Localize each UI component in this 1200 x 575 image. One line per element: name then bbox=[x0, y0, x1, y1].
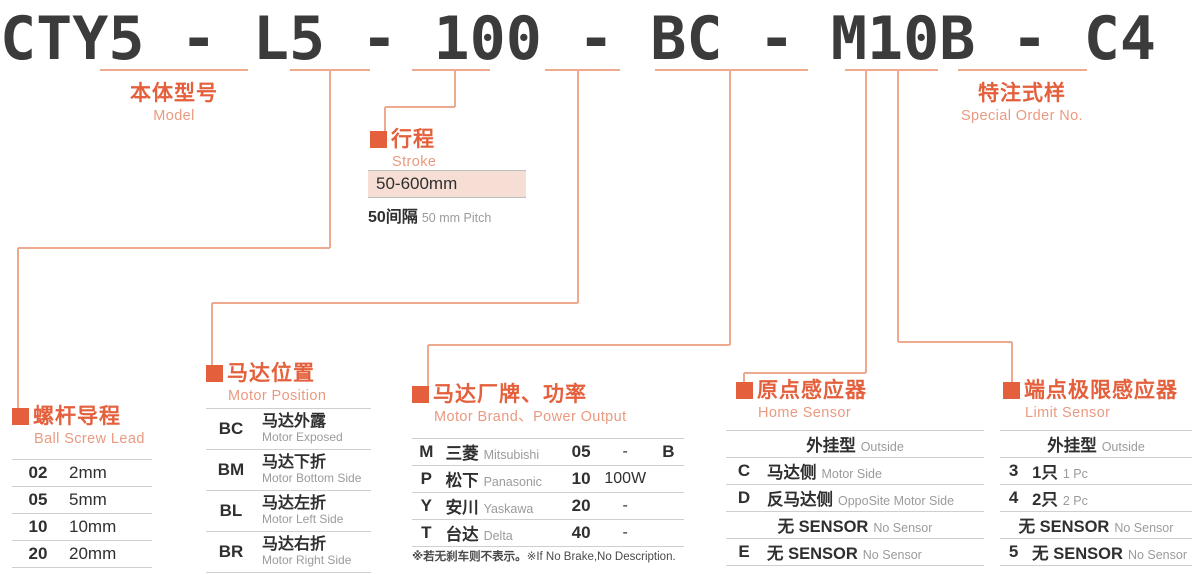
cell-brand-code: P bbox=[412, 466, 441, 493]
cell-brand-code: M bbox=[412, 439, 441, 466]
cell-brand-name: 松下Panasonic bbox=[441, 466, 565, 493]
cell-band-header: 无 SENSORNo Sensor bbox=[1000, 512, 1192, 539]
cell-cn: 马达右折 bbox=[262, 537, 365, 554]
cell-cn: 外挂型 bbox=[806, 437, 856, 455]
cell-en: Yaskawa bbox=[484, 502, 534, 516]
bullet-square-icon bbox=[206, 365, 223, 382]
label-stroke: 行程 Stroke bbox=[370, 128, 436, 171]
table-row: 无 SENSORNo Sensor bbox=[1000, 512, 1192, 539]
cell-cn: 马达侧 bbox=[767, 464, 817, 482]
bullet-square-icon bbox=[370, 131, 387, 148]
bullet-square-icon bbox=[412, 386, 429, 403]
cell-en: Motor Side bbox=[822, 467, 882, 481]
cell-description: 无 SENSORNo Sensor bbox=[762, 539, 984, 566]
table-row: E无 SENSORNo Sensor bbox=[726, 539, 984, 566]
label-motor-brand-cn: 马达厂牌、功率 bbox=[412, 383, 627, 407]
cell-code: 10 bbox=[12, 514, 64, 541]
cell-power-code: 05 bbox=[565, 439, 598, 466]
cell-en: 2 Pc bbox=[1063, 494, 1088, 508]
cell-code: BR bbox=[206, 532, 256, 573]
cell-band-header: 外挂型Outside bbox=[726, 431, 984, 458]
label-stroke-cn: 行程 bbox=[370, 128, 436, 152]
cell-cn: 马达左折 bbox=[262, 496, 365, 513]
table-row: 1010mm bbox=[12, 514, 152, 541]
cell-code: E bbox=[726, 539, 762, 566]
cell-code: 20 bbox=[12, 541, 64, 568]
table-home-sensor: 外挂型OutsideC马达侧Motor SideD反马达侧OppoSite Mo… bbox=[726, 430, 984, 566]
cell-cn: 无 SENSOR bbox=[1032, 545, 1123, 563]
table-row: 无 SENSORNo Sensor bbox=[726, 512, 984, 539]
table-row: 外挂型Outside bbox=[726, 431, 984, 458]
label-motor-position-cn: 马达位置 bbox=[206, 362, 326, 386]
cell-brake-empty bbox=[653, 493, 684, 520]
cell-cn: 无 SENSOR bbox=[778, 518, 869, 536]
cell-description: 马达右折Motor Right Side bbox=[256, 532, 371, 573]
label-ball-screw-lead-en: Ball Screw Lead bbox=[34, 430, 145, 448]
cell-cn: 反马达侧 bbox=[767, 491, 833, 509]
cell-power-code: 20 bbox=[565, 493, 598, 520]
cell-brake-empty bbox=[653, 466, 684, 493]
cell-en: 1 Pc bbox=[1063, 467, 1088, 481]
label-special-order-en: Special Order No. bbox=[952, 107, 1092, 125]
cell-power: 100W bbox=[598, 466, 653, 493]
cell-description: 马达侧Motor Side bbox=[762, 458, 984, 485]
cell-brand-name: 三菱Mitsubishi bbox=[441, 439, 565, 466]
label-limit-sensor-en: Limit Sensor bbox=[1025, 404, 1178, 422]
stroke-spec: 50-600mm 50间隔50 mm Pitch bbox=[368, 170, 526, 227]
cell-en: No Sensor bbox=[863, 548, 922, 562]
diagram-canvas: CTY5 - L5 - 100 - BC - M10B - C4 - 0001 … bbox=[0, 0, 1200, 575]
stroke-pitch: 50间隔50 mm Pitch bbox=[368, 203, 526, 227]
cell-description: 2只2 Pc bbox=[1027, 485, 1192, 512]
stroke-pitch-en: 50 mm Pitch bbox=[422, 211, 491, 225]
cell-code: 5 bbox=[1000, 539, 1027, 566]
cell-code: BL bbox=[206, 491, 256, 532]
cell-cn: 安川 bbox=[446, 499, 479, 517]
cell-en: Motor Left Side bbox=[262, 513, 365, 526]
cell-code: C bbox=[726, 458, 762, 485]
cell-cn: 外挂型 bbox=[1047, 437, 1097, 455]
table-row: D反马达侧OppoSite Motor Side bbox=[726, 485, 984, 512]
cell-description: 马达外露Motor Exposed bbox=[256, 409, 371, 450]
cell-band-header: 外挂型Outside bbox=[1000, 431, 1192, 458]
label-limit-sensor-cn: 端点极限感应器 bbox=[1003, 379, 1178, 403]
cell-power: - bbox=[598, 439, 653, 466]
table-row: 42只2 Pc bbox=[1000, 485, 1192, 512]
table-row: 022mm bbox=[12, 460, 152, 487]
table-limit-sensor: 外挂型Outside31只1 Pc42只2 Pc无 SENSORNo Senso… bbox=[1000, 430, 1192, 566]
label-home-sensor-en: Home Sensor bbox=[758, 404, 867, 422]
product-code: CTY5 - L5 - 100 - BC - M10B - C4 - 0001 bbox=[0, 4, 1200, 74]
cell-code: 4 bbox=[1000, 485, 1027, 512]
cell-cn: 马达下折 bbox=[262, 455, 365, 472]
cell-cn: 无 SENSOR bbox=[1019, 518, 1110, 536]
cell-description: 反马达侧OppoSite Motor Side bbox=[762, 485, 984, 512]
motor-brand-note-cn: ※若无刹车则不表示。 bbox=[412, 551, 527, 563]
cell-value: 20mm bbox=[64, 541, 152, 568]
motor-brand-note-en: ※If No Brake,No Description. bbox=[527, 551, 676, 563]
cell-en: Outside bbox=[861, 440, 904, 454]
cell-en: No Sensor bbox=[1128, 548, 1187, 562]
cell-value: 5mm bbox=[64, 487, 152, 514]
table-ball-screw-lead: 022mm055mm1010mm2020mm bbox=[12, 459, 152, 568]
table-row: 31只1 Pc bbox=[1000, 458, 1192, 485]
cell-en: Mitsubishi bbox=[484, 448, 540, 462]
cell-code: BM bbox=[206, 450, 256, 491]
cell-power-code: 10 bbox=[565, 466, 598, 493]
label-motor-position-en: Motor Position bbox=[228, 387, 326, 405]
cell-brand-code: T bbox=[412, 520, 441, 547]
cell-code: BC bbox=[206, 409, 256, 450]
label-motor-brand: 马达厂牌、功率 Motor Brand、Power Output bbox=[412, 383, 627, 426]
cell-description: 无 SENSORNo Sensor bbox=[1027, 539, 1192, 566]
label-home-sensor-cn: 原点感应器 bbox=[736, 379, 867, 403]
cell-description: 马达左折Motor Left Side bbox=[256, 491, 371, 532]
cell-power-code: 40 bbox=[565, 520, 598, 547]
table-row: 5无 SENSORNo Sensor bbox=[1000, 539, 1192, 566]
cell-cn: 三菱 bbox=[446, 445, 479, 463]
cell-value: 10mm bbox=[64, 514, 152, 541]
cell-description: 1只1 Pc bbox=[1027, 458, 1192, 485]
table-row: BM马达下折Motor Bottom Side bbox=[206, 450, 371, 491]
label-model-cn: 本体型号 bbox=[104, 82, 244, 106]
label-model: 本体型号 Model bbox=[104, 82, 244, 125]
cell-en: Panasonic bbox=[484, 475, 542, 489]
cell-en: No Sensor bbox=[873, 521, 932, 535]
cell-band-header: 无 SENSORNo Sensor bbox=[726, 512, 984, 539]
table-row: BL马达左折Motor Left Side bbox=[206, 491, 371, 532]
cell-en: Motor Exposed bbox=[262, 431, 365, 444]
table-row: 外挂型Outside bbox=[1000, 431, 1192, 458]
cell-en: No Sensor bbox=[1114, 521, 1173, 535]
table-row: C马达侧Motor Side bbox=[726, 458, 984, 485]
label-ball-screw-lead: 螺杆导程 Ball Screw Lead bbox=[12, 405, 145, 448]
label-special-order: 特注式样 Special Order No. bbox=[952, 82, 1092, 125]
cell-cn: 松下 bbox=[446, 472, 479, 490]
motor-brand-note: ※若无刹车则不表示。※If No Brake,No Description. bbox=[412, 548, 676, 564]
cell-cn: 2只 bbox=[1032, 491, 1058, 509]
stroke-range: 50-600mm bbox=[368, 170, 526, 198]
label-motor-brand-en: Motor Brand、Power Output bbox=[434, 408, 627, 426]
bullet-square-icon bbox=[12, 408, 29, 425]
cell-code: 3 bbox=[1000, 458, 1027, 485]
bullet-square-icon bbox=[736, 382, 753, 399]
cell-power: - bbox=[598, 493, 653, 520]
bullet-square-icon bbox=[1003, 382, 1020, 399]
cell-cn: 1只 bbox=[1032, 464, 1058, 482]
label-limit-sensor: 端点极限感应器 Limit Sensor bbox=[1003, 379, 1178, 422]
label-stroke-en: Stroke bbox=[392, 153, 436, 171]
table-row: P松下Panasonic10100W bbox=[412, 466, 684, 493]
table-row: Y安川Yaskawa20- bbox=[412, 493, 684, 520]
table-row: 055mm bbox=[12, 487, 152, 514]
table-motor-position: BC马达外露Motor ExposedBM马达下折Motor Bottom Si… bbox=[206, 408, 371, 573]
cell-brake-code: B bbox=[653, 439, 684, 466]
table-motor-brand: M三菱Mitsubishi05-BP松下Panasonic10100WY安川Ya… bbox=[412, 438, 684, 547]
cell-en: Delta bbox=[484, 529, 513, 543]
label-ball-screw-lead-cn: 螺杆导程 bbox=[12, 405, 145, 429]
cell-brand-name: 台达Delta bbox=[441, 520, 565, 547]
label-special-order-cn: 特注式样 bbox=[952, 82, 1092, 106]
cell-code: 05 bbox=[12, 487, 64, 514]
label-motor-position: 马达位置 Motor Position bbox=[206, 362, 326, 405]
cell-cn: 马达外露 bbox=[262, 414, 365, 431]
label-model-en: Model bbox=[104, 107, 244, 125]
cell-en: Outside bbox=[1102, 440, 1145, 454]
stroke-pitch-cn: 50间隔 bbox=[368, 209, 418, 226]
cell-code: 02 bbox=[12, 460, 64, 487]
cell-en: OppoSite Motor Side bbox=[838, 494, 954, 508]
cell-en: Motor Right Side bbox=[262, 554, 365, 567]
cell-brand-name: 安川Yaskawa bbox=[441, 493, 565, 520]
cell-power: - bbox=[598, 520, 653, 547]
table-row: BC马达外露Motor Exposed bbox=[206, 409, 371, 450]
cell-cn: 无 SENSOR bbox=[767, 545, 858, 563]
label-home-sensor: 原点感应器 Home Sensor bbox=[736, 379, 867, 422]
table-row: BR马达右折Motor Right Side bbox=[206, 532, 371, 573]
cell-cn: 台达 bbox=[446, 526, 479, 544]
table-row: 2020mm bbox=[12, 541, 152, 568]
table-row: T台达Delta40- bbox=[412, 520, 684, 547]
table-row: M三菱Mitsubishi05-B bbox=[412, 439, 684, 466]
cell-brand-code: Y bbox=[412, 493, 441, 520]
cell-value: 2mm bbox=[64, 460, 152, 487]
cell-en: Motor Bottom Side bbox=[262, 472, 365, 485]
cell-code: D bbox=[726, 485, 762, 512]
cell-brake-empty bbox=[653, 520, 684, 547]
cell-description: 马达下折Motor Bottom Side bbox=[256, 450, 371, 491]
